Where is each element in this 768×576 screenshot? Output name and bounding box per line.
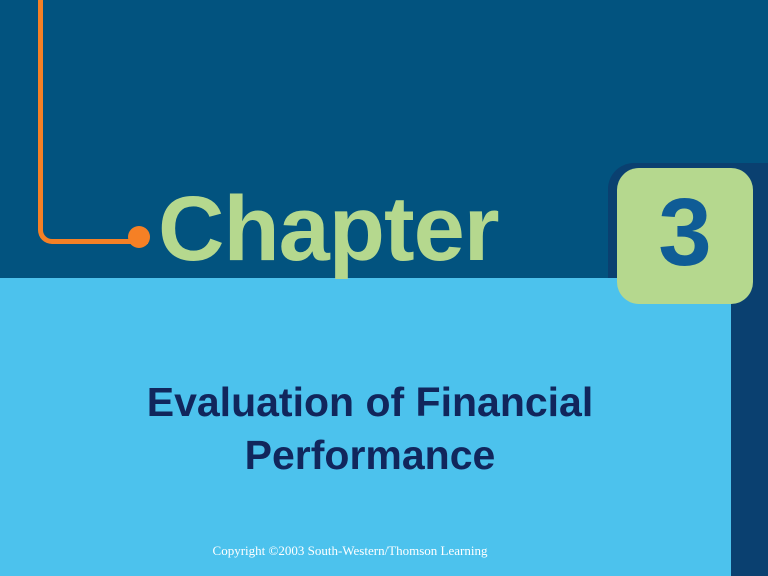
copyright-notice: Copyright ©2003 South-Western/Thomson Le… [0,543,700,559]
title-slide: Chapter 3 Evaluation of Financial Perfor… [0,0,768,576]
orange-elbow-line-icon [38,0,148,244]
chapter-label: Chapter [158,183,499,275]
navy-right-strip [731,278,768,576]
chapter-number-badge: 3 [617,168,753,304]
page-title: Evaluation of Financial Performance [40,376,700,483]
chapter-number-text: 3 [658,185,711,281]
orange-dot-icon [128,226,150,248]
